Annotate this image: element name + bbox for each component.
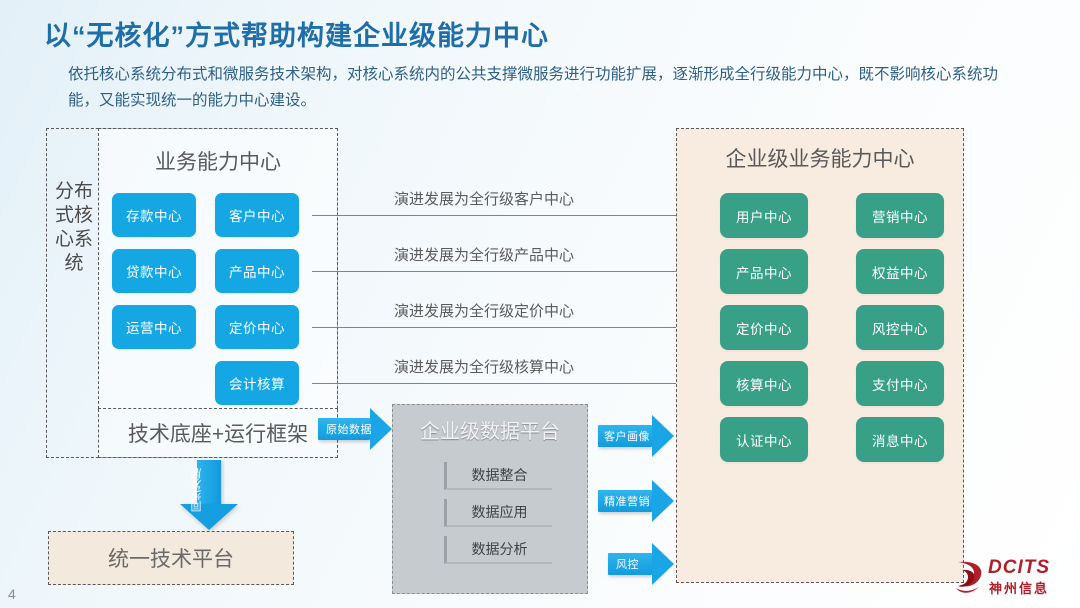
output-arrow-label-precision-marketing: 精准营销 [604, 493, 650, 509]
evolution-arrow-label-3: 演进发展为全行级定价中心 [394, 300, 574, 321]
dcits-mark-icon [952, 558, 986, 596]
evolution-arrow-label-2: 演进发展为全行级产品中心 [394, 244, 574, 265]
capability-box-accounting[interactable]: 会计核算 [215, 361, 299, 405]
capability-box-deposit[interactable]: 存款中心 [112, 193, 196, 237]
output-arrow-label-customer-profile: 客户画像 [604, 428, 650, 444]
ent-capability-box-product[interactable]: 产品中心 [720, 249, 808, 294]
ent-capability-box-riskcontrol[interactable]: 风控中心 [856, 305, 944, 350]
capability-box-pricing[interactable]: 定价中心 [215, 305, 299, 349]
evolution-arrow-label-4: 演进发展为全行级核算中心 [394, 356, 574, 377]
logo-text-cn: 神州信息 [989, 578, 1049, 597]
ent-capability-box-message[interactable]: 消息中心 [856, 417, 944, 462]
data-platform-item-analysis[interactable]: 数据分析 [444, 536, 552, 564]
ent-capability-box-marketing[interactable]: 营销中心 [856, 193, 944, 238]
data-platform-title: 企业级数据平台 [392, 415, 588, 444]
data-platform-item-integration[interactable]: 数据整合 [444, 462, 552, 490]
data-platform-item-application[interactable]: 数据应用 [444, 499, 552, 527]
ent-capability-box-user[interactable]: 用户中心 [720, 193, 808, 238]
page-number: 4 [8, 586, 16, 602]
sync-development-arrow: 同步发展 [180, 460, 238, 530]
output-arrow-risk-control: 风控 [608, 543, 676, 585]
capability-box-operations[interactable]: 运营中心 [112, 305, 196, 349]
capability-box-product[interactable]: 产品中心 [215, 249, 299, 293]
evolution-arrow-line-4 [312, 383, 720, 384]
sync-development-arrow-label: 同步发展 [191, 468, 227, 512]
evolution-arrow-label-1: 演进发展为全行级客户中心 [394, 188, 574, 209]
capability-box-loan[interactable]: 贷款中心 [112, 249, 196, 293]
ent-capability-box-pricing[interactable]: 定价中心 [720, 305, 808, 350]
evolution-arrow-line-3 [312, 327, 720, 328]
tech-base-box: 技术底座+运行框架 [98, 409, 338, 458]
output-arrow-precision-marketing: 精准营销 [598, 480, 676, 522]
company-logo: DCITS 神州信息 [952, 554, 1068, 600]
core-system-label: 分布式核心系统 [50, 180, 98, 276]
page-subtitle: 依托核心系统分布式和微服务技术架构，对核心系统内的公共支撑微服务进行功能扩展，逐… [68, 62, 998, 114]
ent-capability-box-rights[interactable]: 权益中心 [856, 249, 944, 294]
output-arrow-label-risk-control: 风控 [616, 556, 639, 572]
unified-tech-platform-box: 统一技术平台 [48, 531, 294, 585]
raw-data-arrow: 原始数据 [318, 408, 392, 450]
ent-capability-box-auth[interactable]: 认证中心 [720, 417, 808, 462]
evolution-arrow-line-2 [312, 271, 720, 272]
capability-box-customer[interactable]: 客户中心 [215, 193, 299, 237]
evolution-arrow-line-1 [312, 215, 720, 216]
business-capability-center-heading: 业务能力中心 [98, 146, 338, 176]
enterprise-capability-center-heading: 企业级业务能力中心 [676, 143, 964, 173]
output-arrow-customer-profile: 客户画像 [598, 415, 676, 457]
slide-canvas: 以“无核化”方式帮助构建企业级能力中心 依托核心系统分布式和微服务技术架构，对核… [0, 0, 1080, 608]
logo-text-en: DCITS [988, 557, 1050, 579]
page-title: 以“无核化”方式帮助构建企业级能力中心 [44, 14, 549, 53]
ent-capability-box-payment[interactable]: 支付中心 [856, 361, 944, 406]
raw-data-arrow-label: 原始数据 [326, 421, 372, 437]
ent-capability-box-accounting[interactable]: 核算中心 [720, 361, 808, 406]
